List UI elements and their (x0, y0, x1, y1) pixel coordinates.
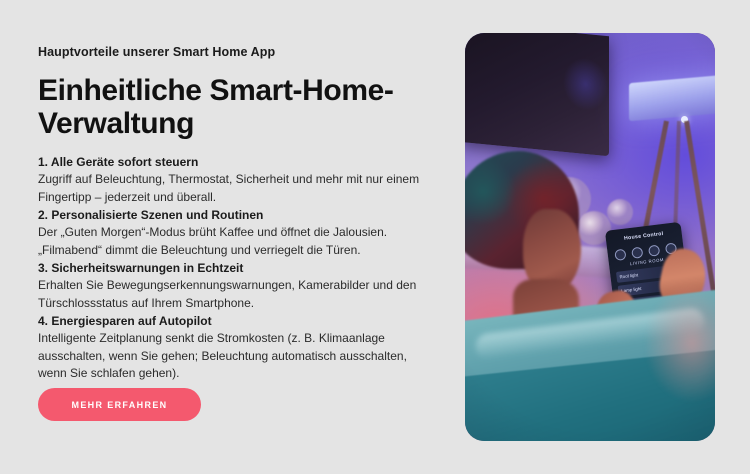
benefit-title: 1. Alle Geräte sofort steuern (38, 154, 438, 171)
benefit-body: Intelligente Zeitplanung senkt die Strom… (38, 330, 436, 383)
benefit-body: Erhalten Sie Bewegungserkennungswarnunge… (38, 277, 436, 312)
list-item: 3. Sicherheitswarnungen in Echtzeit Erha… (38, 260, 438, 312)
list-item: 2. Personalisierte Szenen und Routinen D… (38, 207, 438, 259)
benefit-body: Der „Guten Morgen“-Modus brüht Kaffee un… (38, 224, 436, 259)
benefit-body: Zugriff auf Beleuchtung, Thermostat, Sic… (38, 171, 436, 206)
list-item: 1. Alle Geräte sofort steuern Zugriff au… (38, 154, 438, 206)
page-root: Hauptvorteile unserer Smart Home App Ein… (0, 0, 750, 474)
page-title: Einheitliche Smart-Home-Verwaltung (38, 74, 398, 140)
list-item: 4. Energiesparen auf Autopilot Intellige… (38, 313, 438, 383)
eyebrow-text: Hauptvorteile unserer Smart Home App (38, 44, 438, 60)
benefit-title: 4. Energiesparen auf Autopilot (38, 313, 438, 330)
cta-container: MEHR ERFAHREN (38, 388, 201, 421)
image-vignette (465, 33, 715, 441)
benefit-title: 3. Sicherheitswarnungen in Echtzeit (38, 260, 438, 277)
content-column: Hauptvorteile unserer Smart Home App Ein… (38, 44, 438, 384)
learn-more-button[interactable]: MEHR ERFAHREN (38, 388, 201, 421)
benefit-title: 2. Personalisierte Szenen und Routinen (38, 207, 438, 224)
hero-image: House Control LIVING ROOM Roof light Lam… (465, 33, 715, 441)
benefits-list: 1. Alle Geräte sofort steuern Zugriff au… (38, 154, 438, 383)
